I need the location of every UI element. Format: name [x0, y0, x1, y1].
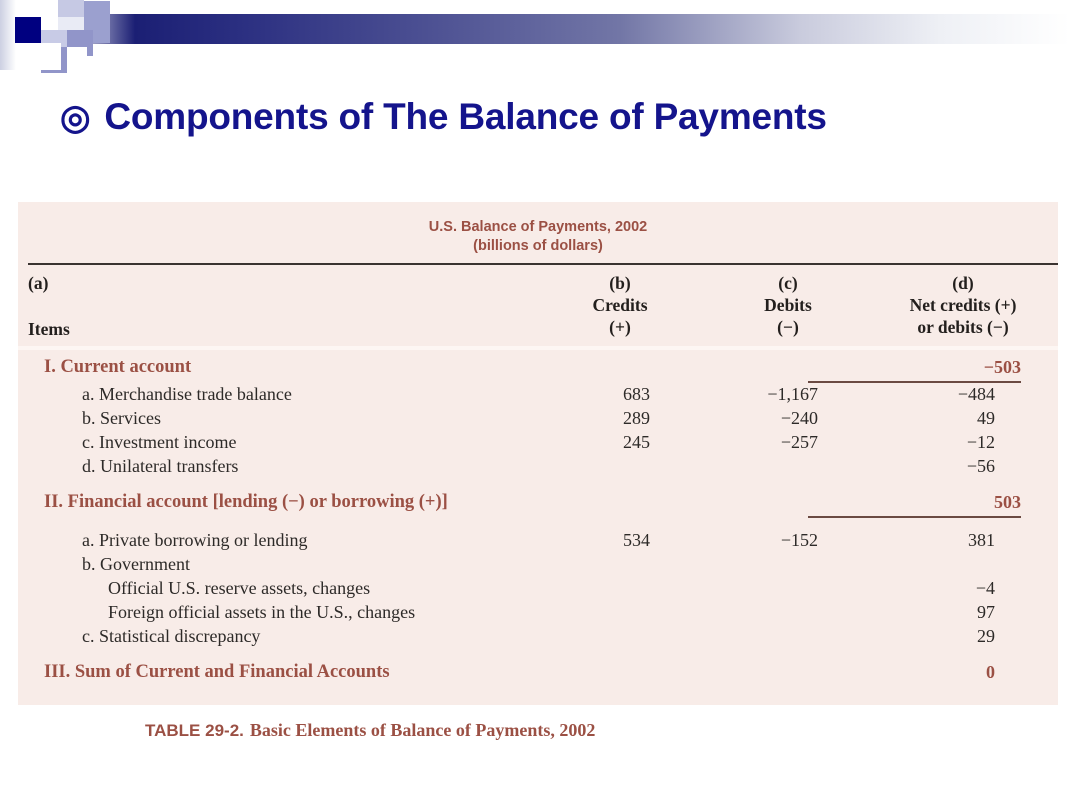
column-header-d-line1: Net credits (+)	[848, 294, 1078, 316]
bullet-icon: ◎	[60, 98, 90, 137]
row-label: b. Services	[82, 406, 161, 430]
decor-square-white-top	[31, 0, 57, 17]
column-header-net: (d) Net credits (+) or debits (−)	[848, 272, 1078, 338]
row-label: Foreign official assets in the U.S., cha…	[108, 600, 415, 624]
row-value-net: −503	[808, 354, 1021, 383]
row-value-net: −484	[808, 382, 995, 406]
table-title-line-1: U.S. Balance of Payments, 2002	[18, 218, 1058, 237]
column-header-b-line1: Credits	[530, 294, 710, 316]
table-row: c. Statistical discrepancy29	[18, 624, 1058, 648]
table-row: d. Unilateral transfers−56	[18, 454, 1058, 478]
row-value-net: 0	[808, 659, 995, 685]
figure-caption: TABLE 29-2.Basic Elements of Balance of …	[145, 720, 595, 741]
row-value-debits: −152	[638, 528, 818, 552]
row-label: a. Merchandise trade balance	[82, 382, 292, 406]
row-value-debits: −240	[638, 406, 818, 430]
row-value-net: 381	[808, 528, 995, 552]
decor-square-navy	[15, 17, 41, 43]
row-value-credits: 534	[470, 528, 650, 552]
row-label: b. Government	[82, 552, 190, 576]
column-header-d-marker: (d)	[848, 272, 1078, 294]
table-title-line-2: (billions of dollars)	[18, 237, 1058, 256]
row-label: c. Investment income	[82, 430, 236, 454]
column-header-b-line2: (+)	[530, 316, 710, 338]
row-value-net: 97	[808, 600, 995, 624]
table-row: a. Private borrowing or lending534−15238…	[18, 528, 1058, 552]
row-label: III. Sum of Current and Financial Accoun…	[44, 659, 390, 685]
column-header-a-marker: (a)	[28, 272, 48, 294]
row-label: d. Unilateral transfers	[82, 454, 238, 478]
decor-square-white-bottom-2	[67, 47, 87, 70]
row-value-credits: 683	[470, 382, 650, 406]
decor-square-white-bottom	[31, 43, 61, 70]
row-value-credits: 289	[470, 406, 650, 430]
row-value-net: −4	[808, 576, 995, 600]
table-row: b. Services289−24049	[18, 406, 1058, 430]
table-section-row: III. Sum of Current and Financial Accoun…	[18, 659, 1058, 687]
page-title: ◎Components of The Balance of Payments	[60, 96, 1020, 138]
row-value-net: −56	[808, 454, 995, 478]
table-heading: U.S. Balance of Payments, 2002 (billions…	[18, 202, 1058, 256]
row-value-net: −12	[808, 430, 995, 454]
row-label: II. Financial account [lending (−) or bo…	[44, 489, 448, 515]
figure-caption-label: TABLE 29-2.	[145, 721, 244, 740]
column-header-items: Items	[28, 318, 70, 340]
decorative-header-banner	[0, 0, 1080, 70]
page-title-text: Components of The Balance of Payments	[104, 96, 826, 137]
table-row: c. Investment income245−257−12	[18, 430, 1058, 454]
table-row: b. Government	[18, 552, 1058, 576]
table-row: a. Merchandise trade balance683−1,167−48…	[18, 382, 1058, 406]
row-value-net: 503	[808, 489, 1021, 518]
row-label: I. Current account	[44, 354, 191, 380]
table-column-headers: (a) Items (b) Credits (+) (c) Debits (−)…	[18, 266, 1058, 346]
decor-fade-left	[0, 0, 16, 70]
row-value-debits: −1,167	[638, 382, 818, 406]
gradient-bar	[0, 14, 1080, 44]
row-value-credits: 245	[470, 430, 650, 454]
table-row: Foreign official assets in the U.S., cha…	[18, 600, 1058, 624]
balance-of-payments-table: U.S. Balance of Payments, 2002 (billions…	[18, 202, 1058, 705]
row-label: a. Private borrowing or lending	[82, 528, 307, 552]
row-value-net: 29	[808, 624, 995, 648]
row-value-debits: −257	[638, 430, 818, 454]
column-header-d-line2: or debits (−)	[848, 316, 1078, 338]
table-body: I. Current account−503a. Merchandise tra…	[18, 350, 1058, 687]
table-row: Official U.S. reserve assets, changes−4	[18, 576, 1058, 600]
column-header-b-marker: (b)	[530, 272, 710, 294]
column-header-credits: (b) Credits (+)	[530, 272, 710, 338]
row-label: c. Statistical discrepancy	[82, 624, 260, 648]
row-value-net: 49	[808, 406, 995, 430]
table-section-row: II. Financial account [lending (−) or bo…	[18, 489, 1058, 517]
figure-caption-text: Basic Elements of Balance of Payments, 2…	[250, 720, 595, 740]
table-section-row: I. Current account−503	[18, 354, 1058, 382]
table-header-rule	[28, 263, 1058, 265]
row-label: Official U.S. reserve assets, changes	[108, 576, 370, 600]
